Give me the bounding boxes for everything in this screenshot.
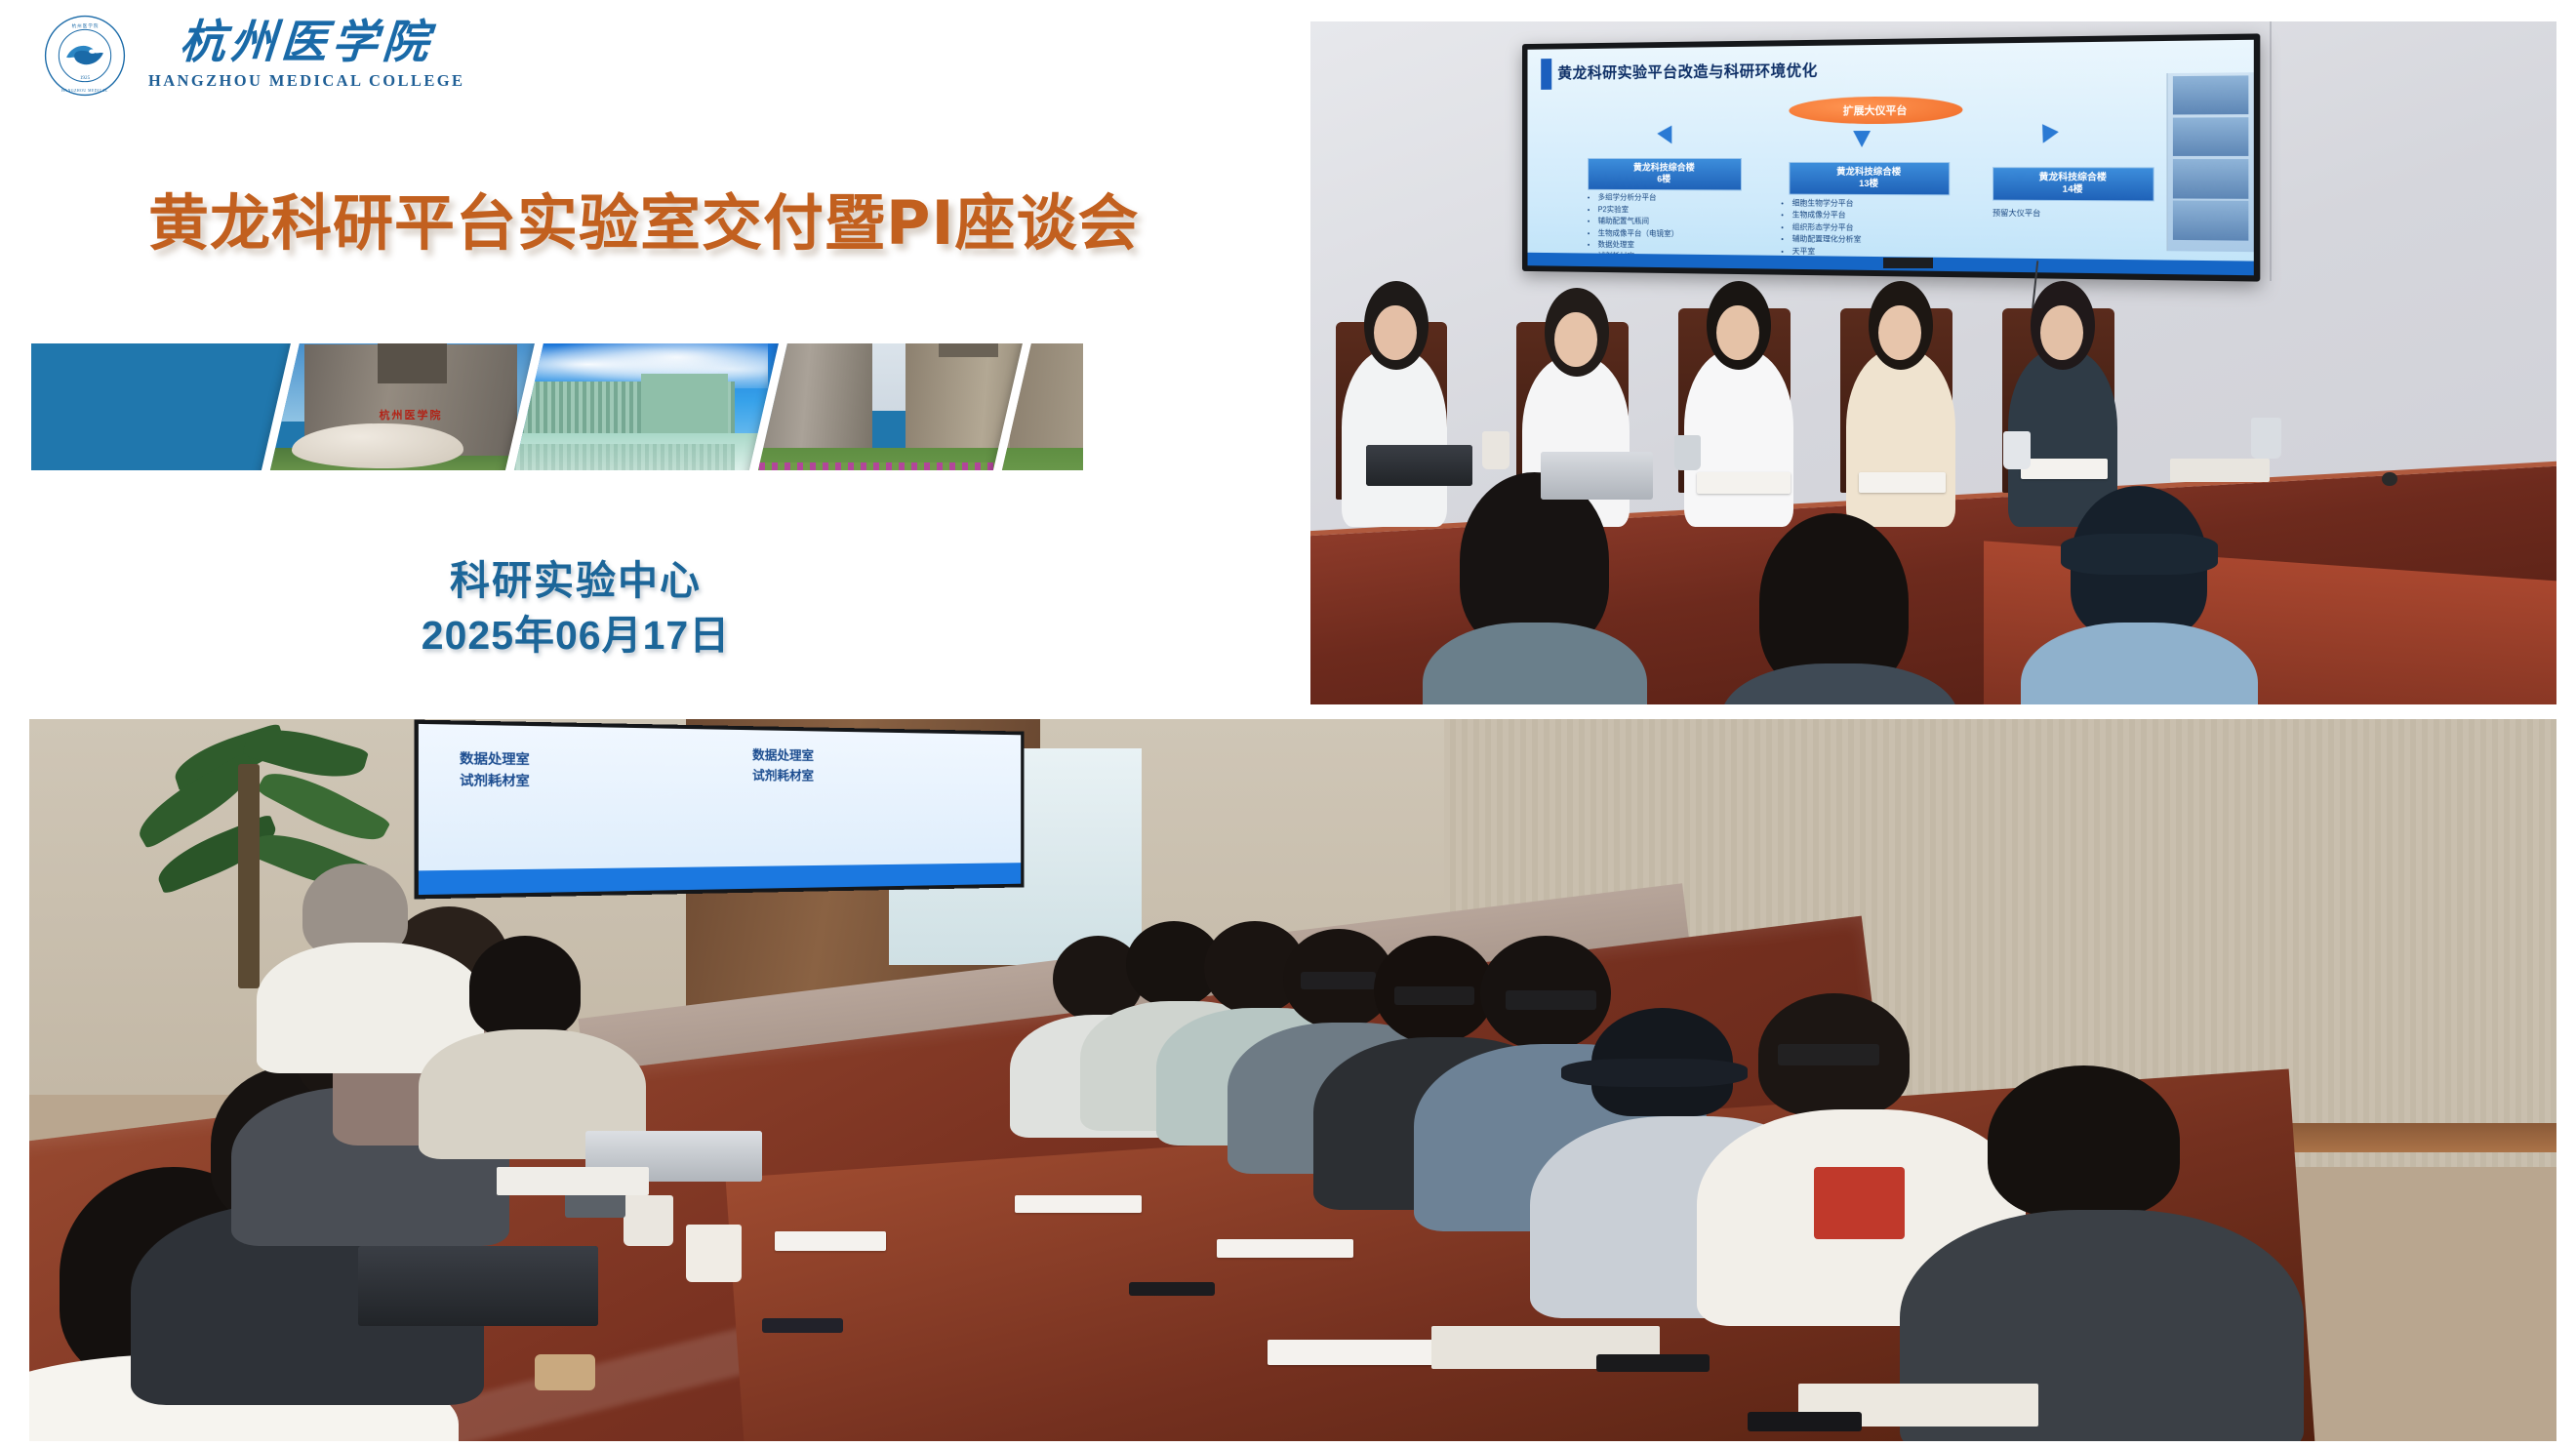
eyeglasses-icon bbox=[1301, 972, 1377, 989]
notebook bbox=[497, 1167, 648, 1196]
notebook bbox=[2170, 459, 2270, 482]
title-panel: 1925 杭 州 医 学 院 HANGZHOU MEDICAL 杭州医学院 HA… bbox=[0, 0, 1298, 717]
document bbox=[2021, 459, 2108, 479]
photo-meeting-wide: 数据处理室 试剂耗材室 数据处理室 试剂耗材室 bbox=[29, 719, 2556, 1441]
campus-stone-caption: 杭州医学院 bbox=[380, 407, 443, 422]
eyeglasses-icon bbox=[1778, 1044, 1879, 1065]
document bbox=[775, 1231, 886, 1250]
cup bbox=[2251, 418, 2281, 459]
slide-box-3-line1: 黄龙科技综合楼 bbox=[2039, 172, 2107, 183]
laptop bbox=[1541, 452, 1653, 500]
college-seal-icon: 1925 杭 州 医 学 院 HANGZHOU MEDICAL bbox=[43, 14, 127, 98]
slide-title-accent bbox=[1541, 59, 1551, 89]
cup bbox=[1674, 435, 1701, 470]
slide-box-2-line1: 黄龙科技综合楼 bbox=[1836, 167, 1901, 179]
slide-list-item: 组织形态学分平台 bbox=[1792, 221, 1955, 235]
slide-list-column-1: 数据处理室 试剂耗材室 bbox=[460, 748, 530, 792]
eyeglasses-icon bbox=[1506, 990, 1596, 1011]
slide-list-item: 数据处理室 bbox=[1598, 239, 1747, 253]
college-name-cn: 杭州医学院 bbox=[179, 20, 435, 67]
cup bbox=[1482, 431, 1509, 469]
subtitle-date: 2025年06月17日 bbox=[0, 611, 1151, 662]
slide-list-item: 数据处理室 bbox=[752, 746, 814, 767]
document bbox=[1217, 1239, 1353, 1258]
presentation-slide: 黄龙科研实验平台改造与科研环境优化 扩展大仪平台 黄龙科技综合楼 6楼 黄龙科技… bbox=[1528, 39, 2254, 274]
cup bbox=[686, 1225, 742, 1282]
photo-meeting-presentation: 黄龙科研实验平台改造与科研环境优化 扩展大仪平台 黄龙科技综合楼 6楼 黄龙科技… bbox=[1310, 21, 2556, 704]
pen bbox=[2382, 472, 2396, 486]
slide-box-3-line2: 14楼 bbox=[2039, 183, 2107, 195]
page-title: 黄龙科研平台实验室交付暨PI座谈会 bbox=[148, 174, 1222, 261]
slide-list-item: 数据处理室 bbox=[460, 748, 530, 771]
display-stand bbox=[1883, 258, 1933, 268]
smartphone bbox=[1748, 1412, 1862, 1430]
document bbox=[1859, 472, 1946, 493]
slide-arrow-icon bbox=[1657, 126, 1679, 148]
smartphone bbox=[1129, 1282, 1215, 1295]
slide-box-3: 黄龙科技综合楼 14楼 bbox=[1992, 166, 2154, 201]
svg-text:杭 州 医 学 院: 杭 州 医 学 院 bbox=[72, 22, 99, 29]
campus-banner: 杭州医学院 bbox=[31, 343, 1083, 470]
slide-box-2-line2: 13楼 bbox=[1836, 179, 1901, 190]
slide-list-item: 试剂耗材室 bbox=[752, 767, 814, 787]
slide-list-item: 生物成像平台（电镜室） bbox=[1598, 227, 1747, 241]
college-wordmark: 杭州医学院 HANGZHOU MEDICAL COLLEGE bbox=[148, 20, 464, 91]
slide-list-item: 辅助配置气瓶间 bbox=[1598, 216, 1747, 228]
slide-list-item: 生物成像分平台 bbox=[1792, 209, 1955, 222]
document bbox=[1015, 1195, 1142, 1213]
slide-title: 黄龙科研实验平台改造与科研环境优化 bbox=[1558, 57, 1819, 82]
smartphone bbox=[762, 1318, 843, 1333]
lanyard bbox=[1814, 1167, 1905, 1239]
slide-list-item: 试剂耗材室 bbox=[460, 771, 530, 792]
slide-lab-photos bbox=[2167, 72, 2254, 252]
slide-box-2: 黄龙科技综合楼 13楼 bbox=[1789, 162, 1950, 196]
poster-page: 1925 杭 州 医 学 院 HANGZHOU MEDICAL 杭州医学院 HA… bbox=[0, 0, 2576, 1447]
slide-list-item: 细胞生物学分平台 bbox=[1792, 197, 1955, 210]
slide-column-3-note: 预留大仪平台 bbox=[1992, 208, 2040, 220]
slide-list-item: 多组学分析分平台 bbox=[1598, 192, 1747, 205]
slide-arrow-icon bbox=[2034, 124, 2058, 147]
college-name-en: HANGZHOU MEDICAL COLLEGE bbox=[148, 71, 464, 91]
slide-list-item: 辅助配置理化分析室 bbox=[1792, 233, 1955, 247]
slide-box-1-line2: 6楼 bbox=[1633, 174, 1695, 185]
slide-box-1: 黄龙科技综合楼 6楼 bbox=[1589, 157, 1742, 190]
smartphone bbox=[1596, 1354, 1711, 1372]
drink-cup bbox=[535, 1354, 595, 1390]
slide-oval-label: 扩展大仪平台 bbox=[1789, 96, 1962, 124]
cup bbox=[2003, 431, 2031, 469]
svg-text:HANGZHOU MEDICAL: HANGZHOU MEDICAL bbox=[61, 89, 108, 93]
wall-display: 黄龙科研实验平台改造与科研环境优化 扩展大仪平台 黄龙科技综合楼 6楼 黄龙科技… bbox=[1522, 33, 2260, 281]
eyeglasses-icon bbox=[1394, 986, 1475, 1005]
slide-box-1-line1: 黄龙科技综合楼 bbox=[1633, 162, 1695, 174]
subtitle-block: 科研实验中心 2025年06月17日 bbox=[0, 556, 1151, 661]
tablet bbox=[1366, 445, 1472, 486]
slide-arrow-icon bbox=[1853, 130, 1871, 146]
cup bbox=[624, 1195, 674, 1246]
slide-list-item: P2实验室 bbox=[1598, 204, 1747, 217]
slide-list-column-2: 数据处理室 试剂耗材室 bbox=[752, 746, 814, 787]
document bbox=[1697, 472, 1791, 494]
college-logo: 1925 杭 州 医 学 院 HANGZHOU MEDICAL 杭州医学院 HA… bbox=[43, 14, 464, 98]
subtitle-department: 科研实验中心 bbox=[0, 556, 1151, 607]
laptop bbox=[358, 1246, 598, 1325]
wall-display: 数据处理室 试剂耗材室 数据处理室 试剂耗材室 bbox=[415, 720, 1025, 900]
svg-text:1925: 1925 bbox=[80, 75, 91, 81]
